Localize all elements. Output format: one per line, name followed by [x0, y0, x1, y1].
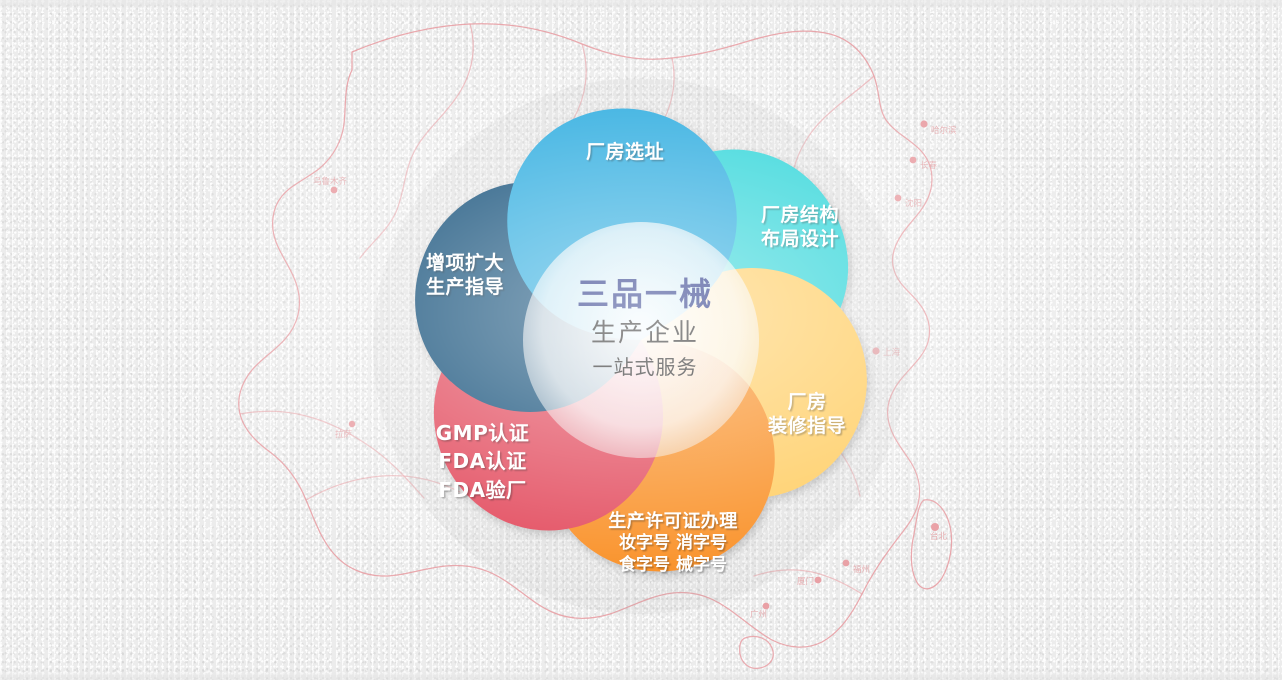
infographic-canvas: 哈尔滨 长春 沈阳 北京 济南 南京 上海 杭州 福州 厦门 台北 广州 乌鲁木… — [0, 0, 1282, 680]
centre-disc — [523, 222, 759, 458]
service-wheel — [341, 40, 941, 640]
